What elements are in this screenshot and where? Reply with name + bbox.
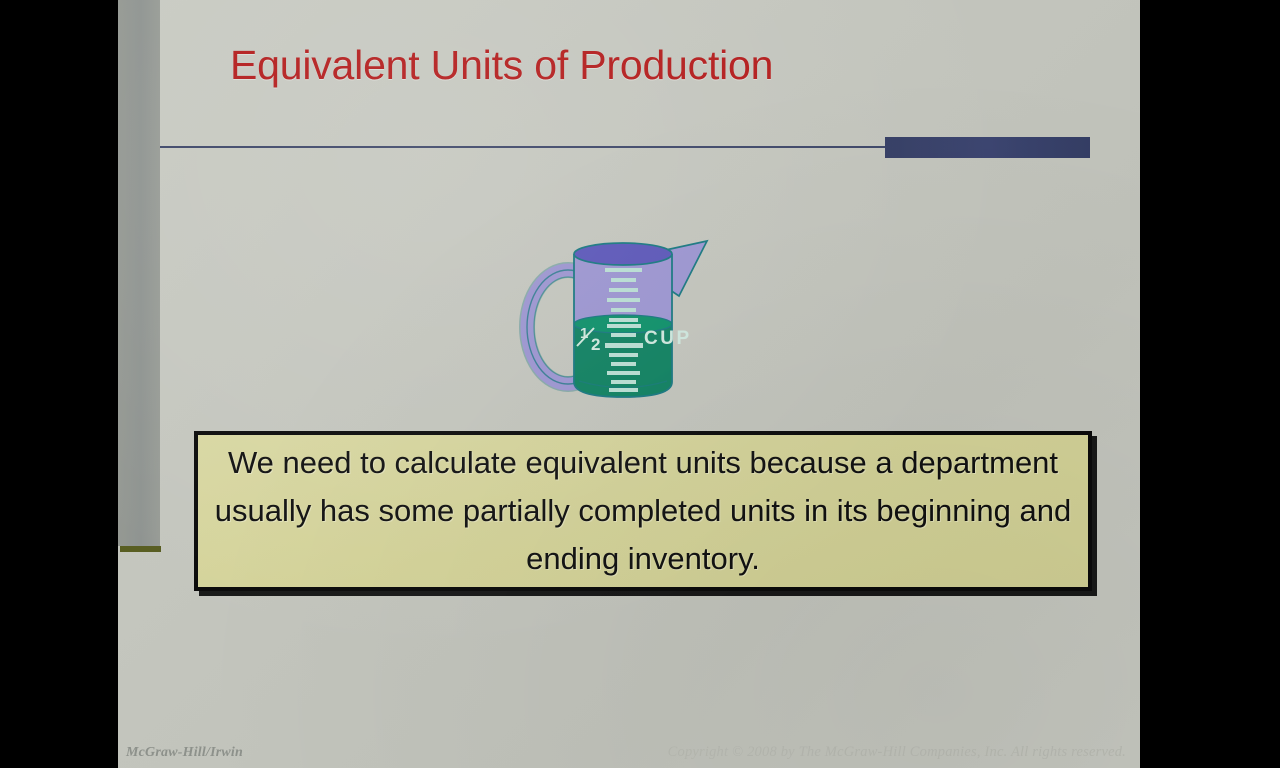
slide-title: Equivalent Units of Production <box>230 45 1090 86</box>
footer-copyright: Copyright © 2008 by The McGraw-Hill Comp… <box>668 744 1126 761</box>
slide-side-band <box>118 0 160 546</box>
cup-unit-label: CUP <box>644 328 692 349</box>
title-accent-block <box>885 137 1090 158</box>
slide-canvas: Equivalent Units of Production <box>118 0 1140 768</box>
cup-rim <box>574 243 672 265</box>
slide-side-band-accent <box>120 546 161 552</box>
cup-fraction-denominator: 2 <box>591 335 600 354</box>
callout-text: We need to calculate equivalent units be… <box>198 439 1088 583</box>
measuring-cup-icon: 1 2 CUP <box>511 232 746 407</box>
presentation-stage: Equivalent Units of Production <box>0 0 1280 768</box>
callout-box: We need to calculate equivalent units be… <box>194 431 1092 591</box>
footer-brand: McGraw-Hill/Irwin <box>126 745 243 761</box>
